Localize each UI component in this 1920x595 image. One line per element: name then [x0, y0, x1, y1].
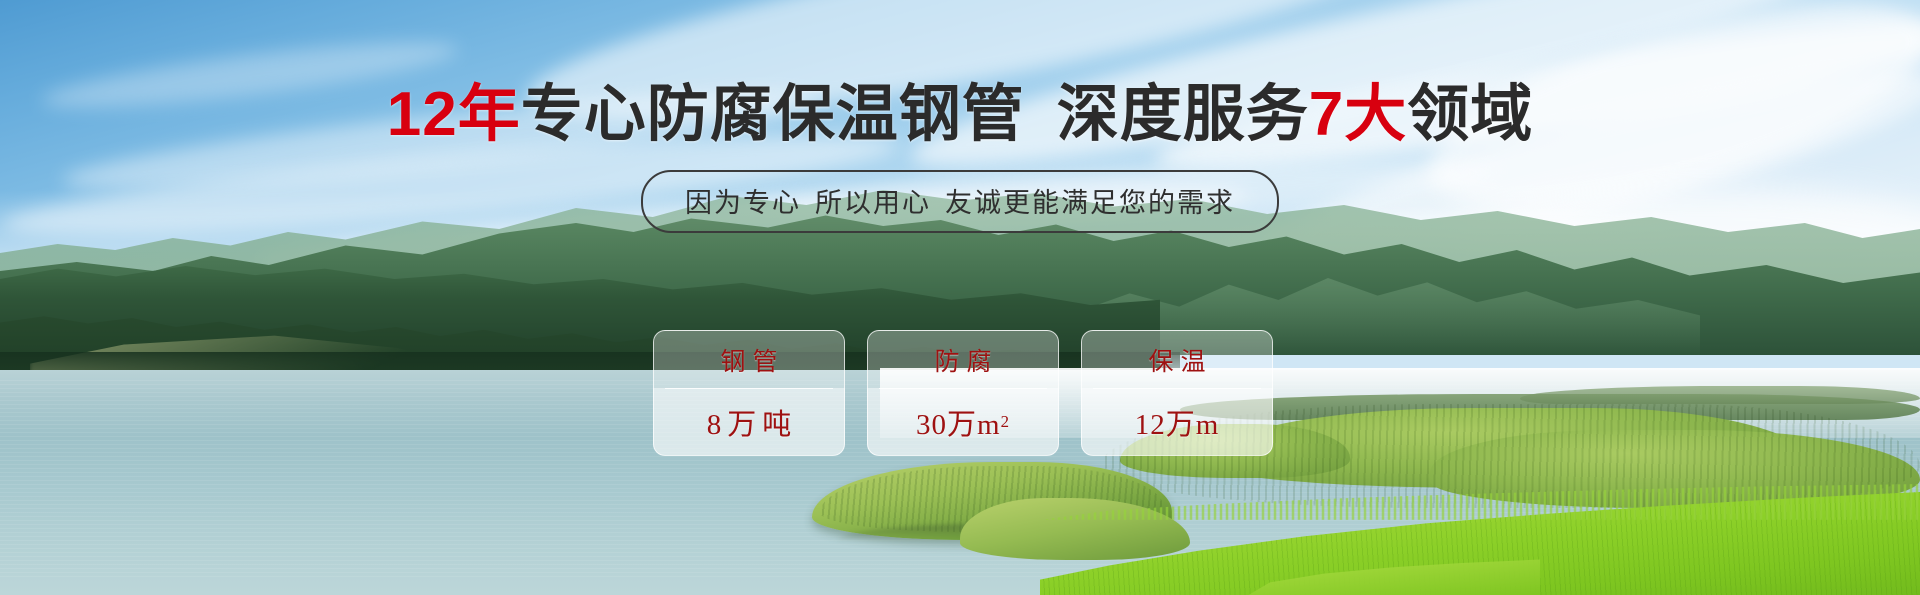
stat-card-label: 钢管: [713, 331, 784, 388]
subtitle-segment-1: 因为专心: [685, 188, 801, 218]
stat-card-anticorrosion: 防腐 30万m2: [867, 330, 1059, 456]
headline-service-text: 深度服务: [1057, 80, 1309, 149]
stat-card-value: 12万m: [1135, 388, 1220, 455]
stat-card-value: 8万吨: [701, 388, 798, 455]
stat-card-value: 30万m2: [916, 388, 1010, 455]
stat-value-base: 12万m: [1135, 401, 1220, 443]
subtitle-segment-3: 友诚更能满足您的需求: [945, 188, 1235, 218]
banner-subtitle-pill: 因为专心所以用心友诚更能满足您的需求: [641, 170, 1279, 233]
subtitle-segment-2: 所以用心: [815, 188, 931, 218]
stat-card-steel-pipe: 钢管 8万吨: [653, 330, 845, 456]
headline-main-text: 专心防腐保温钢管: [521, 80, 1025, 149]
headline-fields-highlight: 7大: [1309, 80, 1407, 149]
stat-cards-group: 钢管 8万吨 防腐 30万m2 保温 12万m: [653, 330, 1273, 456]
hero-banner: 12年专心防腐保温钢管深度服务7大领域 因为专心所以用心友诚更能满足您的需求 钢…: [0, 0, 1920, 595]
stat-value-base: 8万吨: [701, 401, 798, 443]
stat-card-insulation: 保温 12万m: [1081, 330, 1273, 456]
stat-value-exponent: 2: [1001, 412, 1010, 432]
headline-years-highlight: 12年: [387, 80, 521, 149]
headline-fields-text: 领域: [1407, 80, 1533, 149]
stat-card-label: 保温: [1141, 331, 1212, 388]
banner-headline: 12年专心防腐保温钢管深度服务7大领域: [0, 84, 1920, 146]
stat-value-base: 30万m: [916, 401, 1001, 443]
banner-subtitle-container: 因为专心所以用心友诚更能满足您的需求: [0, 170, 1920, 233]
far-shoreline: [1520, 386, 1920, 404]
stat-card-label: 防腐: [927, 331, 998, 388]
